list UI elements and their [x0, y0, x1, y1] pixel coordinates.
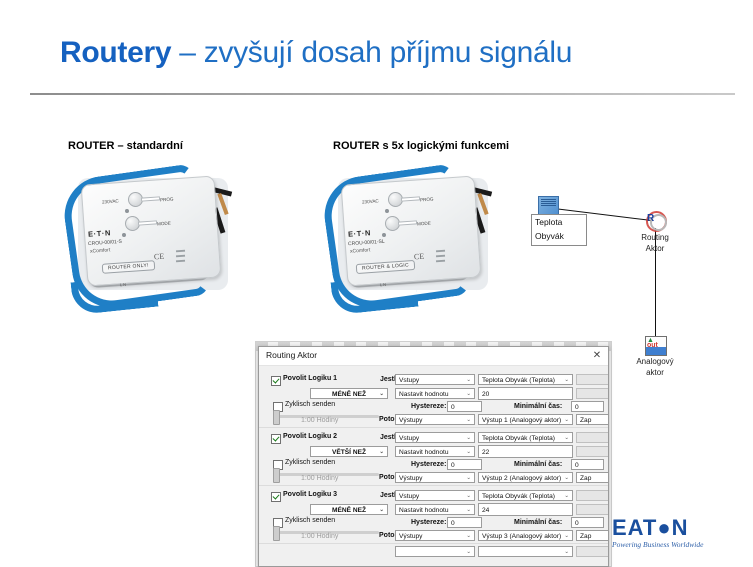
hysteresis-input[interactable]: 0 — [447, 517, 482, 528]
cyclic-send-label: Zyklisch senden — [285, 401, 335, 408]
cyclic-send-label: Zyklisch senden — [285, 459, 335, 466]
logic-block: Povolit Logiku 3 Jestli Vstupy⌄ Teplota … — [259, 486, 608, 544]
chevron-down-icon: ⌄ — [466, 447, 471, 457]
chevron-down-icon: ⌄ — [466, 505, 471, 515]
action-select[interactable]: Nastavit hodnotu⌄ — [395, 388, 475, 399]
min-time-label: Minimální čas: — [514, 403, 562, 410]
then-state-value: Zap — [580, 533, 591, 540]
action-select[interactable]: Nastavit hodnotu⌄ — [395, 446, 475, 457]
slider-knob[interactable] — [273, 410, 280, 425]
sensor-label-line1: Teplota — [532, 215, 586, 229]
action-value: Nastavit hodnotu — [399, 507, 449, 514]
eaton-logo: EAT●N Powering Business Worldwide — [612, 517, 744, 549]
value-input[interactable]: 22 — [478, 445, 573, 458]
dialog-body: Povolit Logiku 1 Jestli Vstupy⌄ Teplota … — [259, 366, 608, 567]
page-title-rest: – zvyšují dosah příjmu signálu — [171, 36, 572, 69]
hysteresis-input[interactable]: 0 — [447, 401, 482, 412]
enable-logic-label: Povolit Logiku 2 — [283, 433, 337, 440]
logic-block: Povolit Logiku 2 Jestli Vstupy⌄ Teplota … — [259, 428, 608, 486]
cyclic-send-label: Zyklisch senden — [285, 517, 335, 524]
if-channel-select[interactable]: Teplota Obyvák (Teplota)⌄ — [478, 374, 573, 385]
chevron-down-icon: ⌄ — [466, 433, 471, 443]
device-mode-label: MODE — [417, 221, 431, 227]
then-source-select[interactable]: Výstupy⌄ — [395, 414, 475, 425]
chevron-down-icon: ⌄ — [379, 447, 384, 457]
if-channel-value: Teplota Obyvák (Teplota) — [482, 493, 555, 500]
chevron-down-icon: ⌄ — [466, 389, 471, 399]
sensor-label-box[interactable]: Teplota Obyvák — [531, 214, 587, 246]
then-channel-select[interactable]: Výstup 1 (Analogový aktor)⌄ — [478, 414, 573, 425]
page-title: Routery – zvyšují dosah příjmu signálu — [60, 36, 572, 70]
min-time-input[interactable]: 0 — [571, 401, 604, 412]
if-channel-value: Teplota Obyvák (Teplota) — [482, 377, 555, 384]
action-select[interactable]: Nastavit hodnotu⌄ — [395, 504, 475, 515]
analog-aktor-label: Analogový aktor — [623, 356, 687, 378]
slider-knob[interactable] — [273, 526, 280, 541]
chevron-down-icon: ⌄ — [564, 491, 569, 501]
device-mode-label: MODE — [157, 221, 171, 227]
if-extra-select[interactable]: ⌄ — [576, 546, 609, 557]
slider-knob[interactable] — [273, 468, 280, 483]
routing-aktor-label-line2: Aktor — [627, 243, 683, 254]
then-channel-value: Výstup 2 (Analogový aktor) — [482, 475, 561, 482]
value-input[interactable]: 20 — [478, 387, 573, 400]
then-source-value: Výstupy — [399, 533, 422, 540]
slide-root: Routery – zvyšují dosah příjmu signálu R… — [0, 0, 753, 565]
device-prog-label: PROG — [420, 197, 434, 203]
chevron-down-icon: ⌄ — [564, 433, 569, 443]
chevron-down-icon: ⌄ — [466, 473, 471, 483]
min-time-input[interactable]: 0 — [571, 459, 604, 470]
if-extra-select[interactable]: ⌄ — [576, 490, 609, 501]
analog-aktor-icon[interactable]: ▲ out — [645, 336, 667, 356]
hysteresis-label: Hystereze: — [411, 519, 446, 526]
chevron-down-icon: ⌄ — [466, 547, 471, 557]
dialog-title: Routing Aktor — [266, 350, 317, 360]
ce-mark-icon: CE — [154, 252, 165, 262]
logic-block-partial: ⌄ ⌄ ⌄ — [259, 544, 608, 558]
min-time-label: Minimální čas: — [514, 519, 562, 526]
eaton-wordmark: EAT●N — [612, 517, 744, 539]
enable-logic-label: Povolit Logiku 1 — [283, 375, 337, 382]
caption-router-logic: ROUTER s 5x logickými funkcemi — [333, 140, 509, 152]
device-pin-labels: L N — [380, 282, 386, 287]
enable-logic-label: Povolit Logiku 3 — [283, 491, 337, 498]
comparator-select[interactable]: VĚTŠÍ NEŽ⌄ — [310, 446, 388, 457]
logic-block: Povolit Logiku 1 Jestli Vstupy⌄ Teplota … — [259, 370, 608, 428]
enable-logic-checkbox[interactable] — [271, 434, 281, 444]
then-channel-value: Výstup 3 (Analogový aktor) — [482, 533, 561, 540]
then-source-select[interactable]: Výstupy⌄ — [395, 530, 475, 541]
device-brand-label: E·T·N — [88, 228, 112, 239]
temperature-sensor-icon — [538, 196, 559, 216]
if-extra-select[interactable]: ⌄ — [576, 432, 609, 443]
ce-mark-icon: CE — [414, 252, 425, 262]
sensor-label-line2: Obyvák — [532, 229, 586, 243]
value-input[interactable]: 24 — [478, 503, 573, 516]
comparator-select[interactable]: MÉNĚ NEŽ⌄ — [310, 388, 388, 399]
if-source-value: Vstupy — [399, 377, 419, 384]
device-photo-router-logic: 230VAC PROG MODE E·T·N CROU-00/01-SL xCo… — [322, 166, 507, 296]
device-prog-label: PROG — [160, 197, 174, 203]
then-channel-value: Výstup 1 (Analogový aktor) — [482, 417, 561, 424]
routing-aktor-label-line1: Routing — [627, 232, 683, 243]
if-extra-select[interactable]: ⌄ — [576, 374, 609, 385]
interval-label: 1:00 Hodiny — [301, 533, 338, 540]
then-channel-select[interactable]: Výstup 3 (Analogový aktor)⌄ — [478, 530, 573, 541]
title-divider — [30, 93, 735, 95]
comparator-value: MÉNĚ NEŽ — [332, 391, 366, 398]
routing-aktor-dialog: Routing Aktor ✕ Povolit Logiku 1 Jestli … — [258, 346, 609, 567]
chevron-down-icon: ⌄ — [564, 473, 569, 483]
chevron-down-icon: ⌄ — [379, 389, 384, 399]
if-source-select[interactable]: Vstupy⌄ — [395, 374, 475, 385]
chevron-down-icon: ⌄ — [379, 505, 384, 515]
then-source-value: Výstupy — [399, 475, 422, 482]
routing-aktor-icon[interactable]: R — [645, 210, 665, 230]
if-channel-value: Teplota Obyvák (Teplota) — [482, 435, 555, 442]
if-channel-select[interactable]: Teplota Obyvák (Teplota)⌄ — [478, 432, 573, 443]
action-extra-select[interactable]: ⌄ — [576, 388, 609, 399]
enable-logic-checkbox[interactable] — [271, 376, 281, 386]
action-extra-select[interactable]: ⌄ — [576, 504, 609, 515]
min-time-input[interactable]: 0 — [571, 517, 604, 528]
interval-label: 1:00 Hodiny — [301, 475, 338, 482]
chevron-down-icon: ⌄ — [564, 375, 569, 385]
device-photo-router-standard: 230VAC PROG MODE E·T·N CROU-00/01-S xCom… — [62, 166, 247, 296]
analog-aktor-label-line1: Analogový — [623, 356, 687, 367]
chevron-down-icon: ⌄ — [466, 375, 471, 385]
router-letter: R — [647, 213, 654, 224]
then-state-value: Zap — [580, 417, 591, 424]
if-source-select[interactable]: ⌄ — [395, 546, 475, 557]
action-extra-select[interactable]: ⌄ — [576, 446, 609, 457]
routing-aktor-label: Routing Aktor — [627, 232, 683, 254]
then-state-select[interactable]: Zap⌄ — [576, 414, 609, 425]
if-source-value: Vstupy — [399, 493, 419, 500]
if-source-value: Vstupy — [399, 435, 419, 442]
then-source-select[interactable]: Výstupy⌄ — [395, 472, 475, 483]
enable-logic-checkbox[interactable] — [271, 492, 281, 502]
close-icon[interactable]: ✕ — [590, 349, 604, 363]
chevron-down-icon: ⌄ — [466, 531, 471, 541]
caption-router-standard: ROUTER – standardní — [68, 140, 183, 152]
device-pin-labels: L N — [120, 282, 126, 287]
analog-aktor-label-line2: aktor — [623, 367, 687, 378]
comparator-select[interactable]: MÉNĚ NEŽ⌄ — [310, 504, 388, 515]
hysteresis-label: Hystereze: — [411, 403, 446, 410]
if-source-select[interactable]: Vstupy⌄ — [395, 490, 475, 501]
interval-label: 1:00 Hodiny — [301, 417, 338, 424]
chevron-down-icon: ⌄ — [466, 415, 471, 425]
comparator-value: MÉNĚ NEŽ — [332, 507, 366, 514]
eaton-tagline: Powering Business Worldwide — [612, 540, 744, 549]
chevron-down-icon: ⌄ — [564, 531, 569, 541]
device-brand-label: E·T·N — [348, 228, 372, 239]
then-channel-select[interactable]: Výstup 2 (Analogový aktor)⌄ — [478, 472, 573, 483]
chevron-down-icon: ⌄ — [564, 415, 569, 425]
action-value: Nastavit hodnotu — [399, 391, 449, 398]
analog-icon-red-mark: out — [647, 342, 658, 349]
action-value: Nastavit hodnotu — [399, 449, 449, 456]
then-source-value: Výstupy — [399, 417, 422, 424]
if-channel-select[interactable]: ⌄ — [478, 546, 573, 557]
chevron-down-icon: ⌄ — [466, 491, 471, 501]
hysteresis-label: Hystereze: — [411, 461, 446, 468]
then-state-select[interactable]: Zap⌄ — [576, 530, 609, 541]
then-state-value: Zap — [580, 475, 591, 482]
if-channel-select[interactable]: Teplota Obyvák (Teplota)⌄ — [478, 490, 573, 501]
hysteresis-input[interactable]: 0 — [447, 459, 482, 470]
min-time-label: Minimální čas: — [514, 461, 562, 468]
page-title-bold: Routery — [60, 36, 171, 69]
dialog-title-bar: Routing Aktor ✕ — [259, 347, 608, 366]
chevron-down-icon: ⌄ — [564, 547, 569, 557]
if-source-select[interactable]: Vstupy⌄ — [395, 432, 475, 443]
then-state-select[interactable]: Zap⌄ — [576, 472, 609, 483]
comparator-value: VĚTŠÍ NEŽ — [332, 449, 366, 456]
